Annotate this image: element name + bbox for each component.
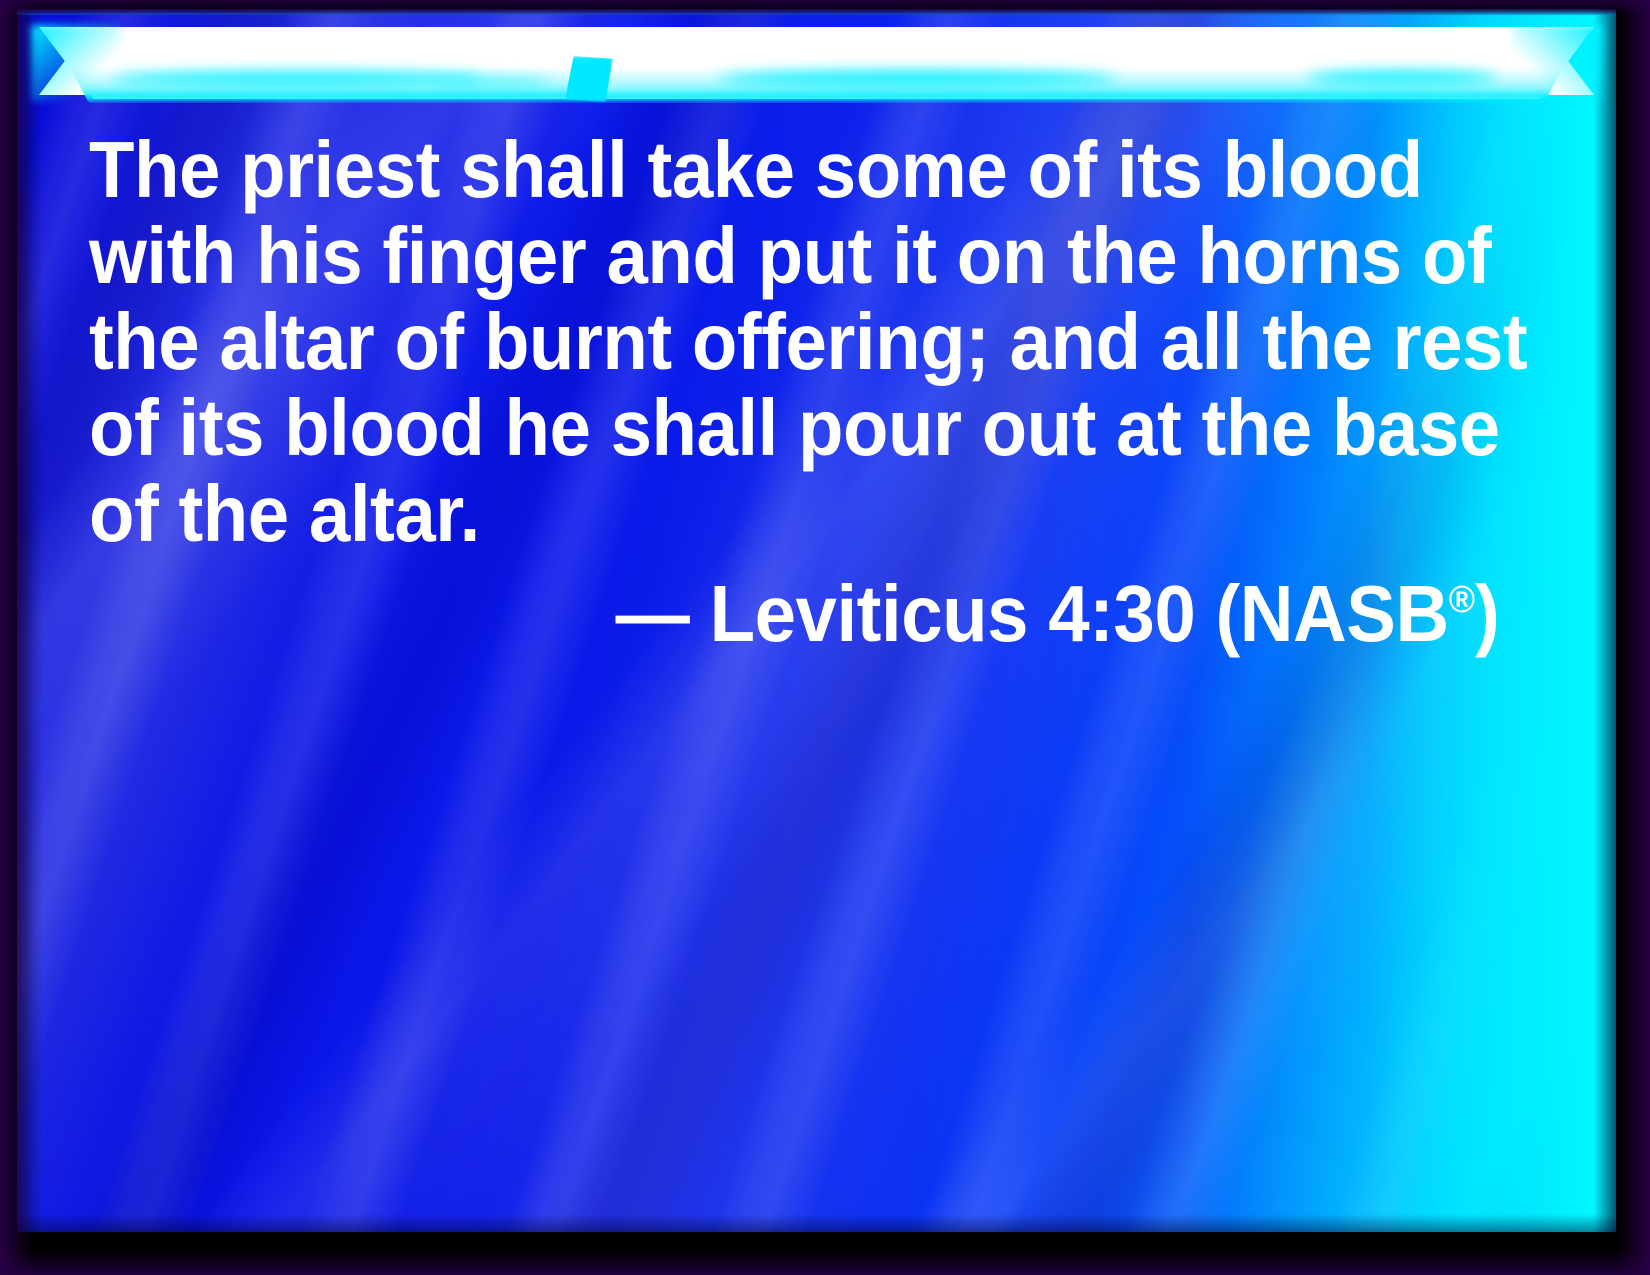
verse-line: The priest shall take some of its blood [89,127,1400,213]
verse-line: of its blood he shall pour out at the ba… [89,385,1400,471]
verse-text-block: The priest shall take some of its blood … [89,127,1499,557]
registered-trademark-icon: ® [1448,578,1474,621]
attribution-text: — Leviticus 4:30 (NASB®) [615,557,1499,657]
band-cyan-wisp [432,77,552,86]
band-white-trapezoid [39,27,1594,99]
attribution-suffix: ) [1475,569,1499,658]
band-cyan-fringe [29,25,1604,103]
attribution-prefix: — Leviticus 4:30 (NASB [615,569,1448,658]
band-cyan-wisp [1307,70,1497,85]
verse-line: of the altar. [89,471,1400,557]
verse-line: the altar of burnt offering; and all the… [89,299,1400,385]
slide-background: The priest shall take some of its blood … [17,9,1616,1232]
verse-slide: The priest shall take some of its blood … [0,0,1650,1275]
verse-attribution: — Leviticus 4:30 (NASB®) [89,557,1499,657]
verse-line: with his finger and put it on the horns … [89,213,1400,299]
band-cyan-wisp [112,71,482,86]
band-cyan-wisp [717,70,1117,87]
band-glow-shadow [39,27,1594,95]
band-bevel-right [1512,25,1602,101]
band-top-line [17,9,1616,15]
band-bevel-left [31,25,121,101]
band-cyan-notch [565,56,613,102]
top-highlight-band [17,9,1616,129]
